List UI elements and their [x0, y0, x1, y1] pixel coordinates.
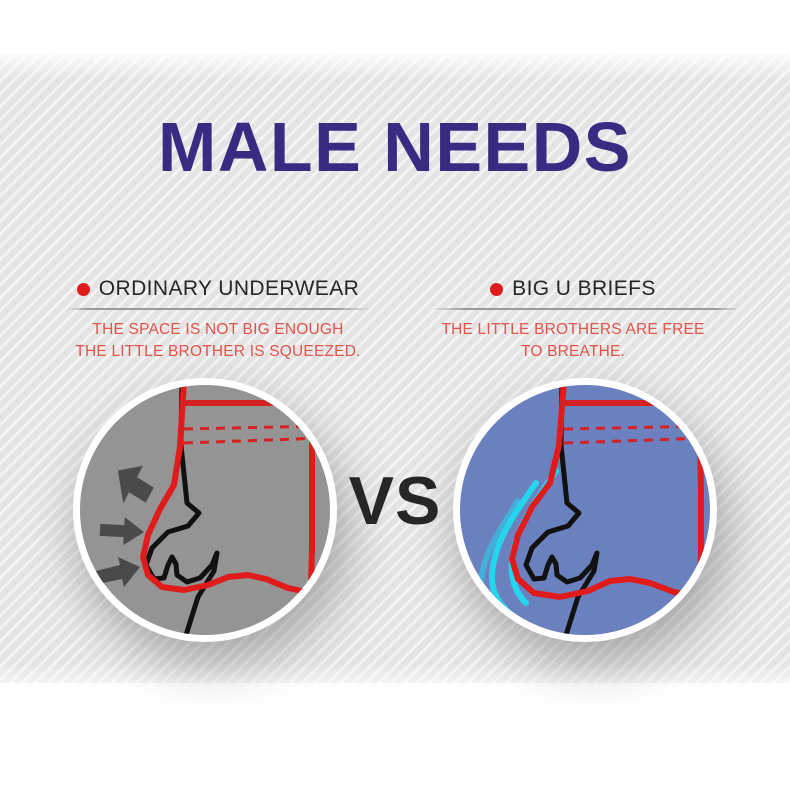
anatomy-diagram-left [80, 385, 330, 635]
column-left: ORDINARY UNDERWEAR THE SPACE IS NOT BIG … [53, 276, 383, 363]
ordinary-underwear-illustration [73, 378, 337, 642]
red-dot-icon [490, 283, 503, 296]
column-right-heading: BIG U BRIEFS [512, 277, 656, 301]
anatomy-diagram-right [460, 385, 710, 635]
band-top-fade [0, 54, 790, 80]
column-right-subtext-line-2: TO BREATHE. [408, 341, 738, 363]
column-right-divider [434, 308, 736, 310]
big-u-briefs-illustration [453, 378, 717, 642]
band-bottom-fade [0, 663, 790, 683]
column-left-divider [67, 308, 369, 310]
vs-label: VS [340, 462, 450, 540]
illustration-circle-blue [453, 378, 717, 642]
column-left-header: ORDINARY UNDERWEAR [53, 276, 383, 302]
column-left-heading: ORDINARY UNDERWEAR [99, 277, 359, 301]
column-right: BIG U BRIEFS THE LITTLE BROTHERS ARE FRE… [408, 276, 738, 363]
red-dot-icon [77, 283, 90, 296]
column-right-header: BIG U BRIEFS [408, 276, 738, 302]
page-title: MALE NEEDS [0, 112, 790, 182]
column-right-subtext-line-1: THE LITTLE BROTHERS ARE FREE [408, 319, 738, 341]
column-right-subtext: THE LITTLE BROTHERS ARE FREE TO BREATHE. [408, 319, 738, 363]
illustration-circle-gray [73, 378, 337, 642]
infographic-canvas: MALE NEEDS ORDINARY UNDERWEAR THE SPACE … [0, 0, 790, 790]
column-left-subtext: THE SPACE IS NOT BIG ENOUGH THE LITTLE B… [53, 319, 383, 363]
column-left-subtext-line-1: THE SPACE IS NOT BIG ENOUGH [53, 319, 383, 341]
column-left-subtext-line-2: THE LITTLE BROTHER IS SQUEEZED. [53, 341, 383, 363]
